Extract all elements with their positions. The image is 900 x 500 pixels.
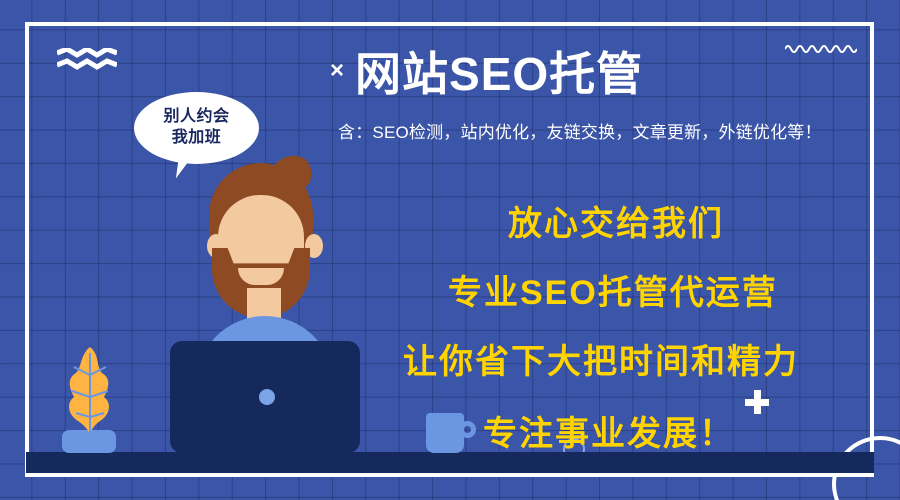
speech-bubble-text: 别人约会 我加班 xyxy=(134,92,259,164)
mug-handle xyxy=(459,421,476,438)
page-subtitle: 含：SEO检测，站内优化，友链交换，文章更新，外链优化等！ xyxy=(338,118,890,143)
pitch-line-2: 专业SEO托管代运营 xyxy=(448,265,778,314)
mug-icon xyxy=(426,413,464,453)
desk-surface xyxy=(26,452,874,473)
seo-hosting-banner: ×网站SEO托管 含：SEO检测，站内优化，友链交换，文章更新，外链优化等！ 放… xyxy=(0,0,900,500)
speech-bubble-line-1: 别人约会 xyxy=(163,108,229,127)
speech-bubble-line-2: 我加班 xyxy=(172,129,222,148)
zigzag-wave-icon xyxy=(57,48,117,70)
title-x-mark: × xyxy=(330,57,345,84)
pitch-line-1: 放心交给我们 xyxy=(508,196,724,245)
page-title: ×网站SEO托管 xyxy=(330,48,890,101)
speech-bubble: 别人约会 我加班 xyxy=(134,92,259,164)
title-text: 网站SEO托管 xyxy=(355,48,643,100)
pitch-line-4: 专注事业发展！ xyxy=(483,406,735,455)
laptop-logo-icon xyxy=(259,389,275,405)
pitch-line-3: 让你省下大把时间和精力 xyxy=(403,334,799,383)
plus-icon xyxy=(745,390,769,414)
plant-leaf-icon xyxy=(60,345,120,441)
